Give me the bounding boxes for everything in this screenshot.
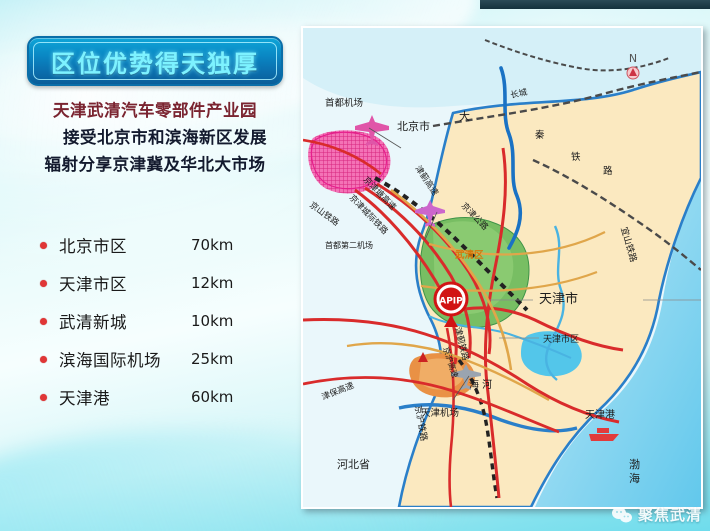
distance-name: 天津港 (59, 385, 191, 409)
slide-canvas: 区位优势得天独厚 天津武清汽车零部件产业园 接受北京市和滨海新区发展 辐射分享京… (0, 0, 710, 531)
distance-value: 25km (191, 350, 233, 368)
svg-text:N: N (629, 52, 637, 65)
bullet-dot-icon (40, 280, 47, 287)
watermark-text: 聚焦武清 (638, 504, 702, 525)
distance-list: 北京市区 70km 天津市区 12km 武清新城 10km 滨海国际机场 25k… (40, 226, 290, 416)
subtitle-line-2: 接受北京市和滨海新区发展 (24, 124, 286, 151)
label-capital-airport: 首都机场 (325, 97, 363, 109)
distance-name: 北京市区 (59, 233, 191, 257)
page-title: 区位优势得天独厚 (51, 44, 259, 79)
subtitle-line-3: 辐射分享京津冀及华北大市场 (24, 151, 286, 178)
label-bohai-sea-2: 海 (629, 471, 640, 485)
label-beijing-city: 北京市 (397, 119, 430, 133)
label-dashi: 大 (459, 109, 470, 123)
list-item: 武清新城 10km (40, 302, 290, 340)
label-bohai-sea: 渤 (629, 458, 640, 471)
list-item: 滨海国际机场 25km (40, 340, 290, 378)
bullet-dot-icon (40, 318, 47, 325)
label-wuqing-district: 武清区 (455, 249, 484, 261)
subtitle-block: 天津武清汽车零部件产业园 接受北京市和滨海新区发展 辐射分享京津冀及华北大市场 (24, 98, 286, 178)
label-jingqin-railway-3: 路 (603, 165, 613, 177)
label-jingqin-railway-2: 铁 (571, 151, 581, 163)
location-map: APIP N 首都机场 北京市 首都第二机场 京山铁路 京津塘高速 京津城际铁路… (301, 26, 703, 509)
distance-value: 12km (191, 274, 233, 292)
distance-value: 70km (191, 236, 233, 254)
slide-title-banner: 区位优势得天独厚 (27, 36, 283, 86)
title-inner-frame: 区位优势得天独厚 (33, 42, 277, 80)
distance-value: 10km (191, 312, 233, 330)
distance-name: 武清新城 (59, 309, 191, 333)
label-capital-second-airport: 首都第二机场 (325, 240, 373, 250)
distance-name: 天津市区 (59, 271, 191, 295)
bullet-dot-icon (40, 394, 47, 401)
label-hebei-province: 河北省 (337, 458, 370, 471)
list-item: 天津港 60km (40, 378, 290, 416)
watermark: 聚焦武清 (611, 504, 702, 525)
subtitle-line-1: 天津武清汽车零部件产业园 (24, 98, 286, 124)
list-item: 天津市区 12km (40, 264, 290, 302)
bullet-dot-icon (40, 242, 47, 249)
distance-name: 滨海国际机场 (59, 347, 191, 371)
label-tianjin-port: 天津港 (585, 409, 615, 421)
distance-value: 60km (191, 388, 233, 406)
svg-text:APIP: APIP (439, 297, 463, 307)
list-item: 北京市区 70km (40, 226, 290, 264)
label-jingqin-railway: 秦 (535, 129, 545, 141)
bullet-dot-icon (40, 356, 47, 363)
label-tianjin-urban: 天津市区 (543, 333, 579, 345)
top-accent-bar (480, 0, 710, 9)
label-haihe-river: 海 河 (469, 378, 492, 391)
wechat-icon (611, 506, 633, 524)
map-graphic: APIP N 首都机场 北京市 首都第二机场 京山铁路 京津塘高速 京津城际铁路… (303, 28, 701, 507)
label-tianjin-city: 天津市 (539, 291, 578, 307)
label-tianjin-airport: 天津机场 (421, 407, 459, 419)
